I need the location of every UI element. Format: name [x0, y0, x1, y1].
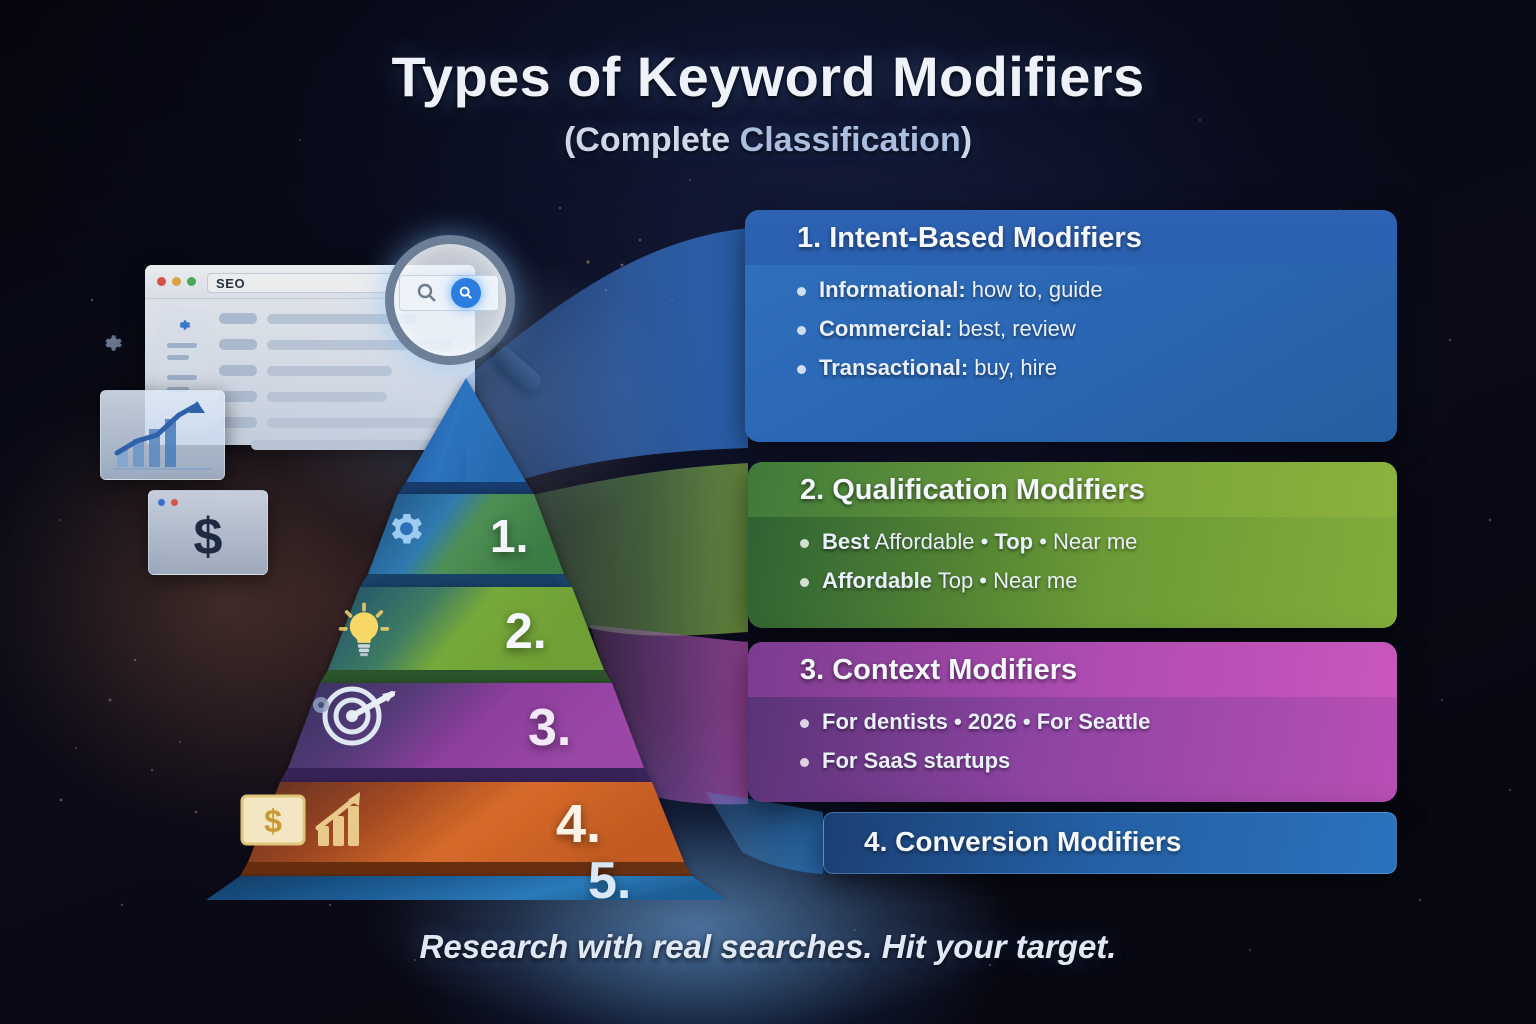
list-item-bold: Affordable	[822, 568, 932, 593]
list-item: Best Affordable • Top • Near me	[800, 529, 1397, 555]
pyramid-tier-5[interactable]	[206, 876, 726, 900]
tier-number-4: 4.	[556, 794, 601, 854]
search-input-value: SEO	[216, 276, 245, 291]
panel-conversion-modifiers[interactable]: 4. Conversion Modifiers	[823, 812, 1397, 874]
list-item: For dentists • 2026 • For Seattle	[800, 709, 1397, 735]
panel-3-heading: 3. Context Modifiers	[748, 642, 1397, 697]
minimize-dot-icon	[172, 277, 181, 286]
tier-number-5: 5.	[588, 852, 631, 900]
pyramid-apex	[398, 378, 534, 494]
page-subtitle: (Complete Classification)	[0, 121, 1536, 160]
tier-number-3: 3.	[528, 699, 571, 757]
list-item-bold: Commercial:	[819, 316, 952, 341]
panel-3-list: For dentists • 2026 • For Seattle For Sa…	[800, 709, 1397, 774]
panel-2-list: Best Affordable • Top • Near me Affordab…	[800, 529, 1397, 594]
panel-2-body: Best Affordable • Top • Near me Affordab…	[748, 517, 1397, 628]
list-item: Affordable Top • Near me	[800, 568, 1397, 594]
list-item-rest-2: • Near me	[1033, 529, 1137, 554]
gear-icon	[174, 316, 192, 334]
list-item-rest: buy, hire	[968, 355, 1057, 380]
panel-2-heading: 2. Qualification Modifiers	[748, 462, 1397, 517]
list-item-rest: best, review	[952, 316, 1076, 341]
panel-1-body: Informational: how to, guide Commercial:…	[745, 265, 1397, 442]
panel-context-modifiers[interactable]: 3. Context Modifiers For dentists • 2026…	[748, 642, 1397, 802]
maximize-dot-icon	[187, 277, 196, 286]
panel-1-list: Informational: how to, guide Commercial:…	[797, 277, 1397, 381]
subtitle-accent: Classification	[740, 121, 961, 159]
pyramid-tier-3[interactable]	[280, 683, 652, 782]
subtitle-open: (Complete	[564, 121, 740, 159]
list-item-rest: how to, guide	[966, 277, 1103, 302]
page-title: Types of Keyword Modifiers	[0, 44, 1536, 109]
list-item-bold: Best	[822, 529, 870, 554]
gear-icon	[98, 330, 124, 356]
list-item-bold: Transactional:	[819, 355, 968, 380]
panel-1-heading: 1. Intent-Based Modifiers	[745, 210, 1397, 265]
list-item-rest: Affordable •	[870, 529, 995, 554]
panel-qualification-modifiers[interactable]: 2. Qualification Modifiers Best Affordab…	[748, 462, 1397, 628]
list-item-bold: Informational:	[819, 277, 966, 302]
list-item: Informational: how to, guide	[797, 277, 1397, 303]
panel-4-heading: 4. Conversion Modifiers	[824, 813, 1396, 858]
tier-number-2: 2.	[505, 603, 547, 659]
pyramid-diagram: $ 1. 2. 3. 4. 5.	[160, 370, 820, 900]
svg-text:$: $	[264, 803, 282, 839]
header: Types of Keyword Modifiers (Complete Cla…	[0, 44, 1536, 160]
list-item: For SaaS startups	[800, 748, 1397, 774]
panel-3-body: For dentists • 2026 • For Seattle For Sa…	[748, 697, 1397, 802]
list-item-bold: For dentists • 2026 • For Seattle	[822, 709, 1150, 734]
list-item: Commercial: best, review	[797, 316, 1397, 342]
list-item-bold-2: Top	[994, 529, 1033, 554]
subtitle-close: )	[961, 121, 972, 159]
list-item-rest: Top • Near me	[932, 568, 1077, 593]
close-dot-icon	[157, 277, 166, 286]
footer-tagline: Research with real searches. Hit your ta…	[0, 928, 1536, 966]
pyramid-tier-1[interactable]	[360, 494, 572, 587]
list-item: Transactional: buy, hire	[797, 355, 1397, 381]
magnifier-icon	[385, 235, 515, 365]
tier-number-1: 1.	[490, 510, 528, 562]
panel-intent-based-modifiers[interactable]: 1. Intent-Based Modifiers Informational:…	[745, 210, 1397, 442]
list-item-bold: For SaaS startups	[822, 748, 1010, 773]
infographic-canvas: Types of Keyword Modifiers (Complete Cla…	[0, 0, 1536, 1024]
